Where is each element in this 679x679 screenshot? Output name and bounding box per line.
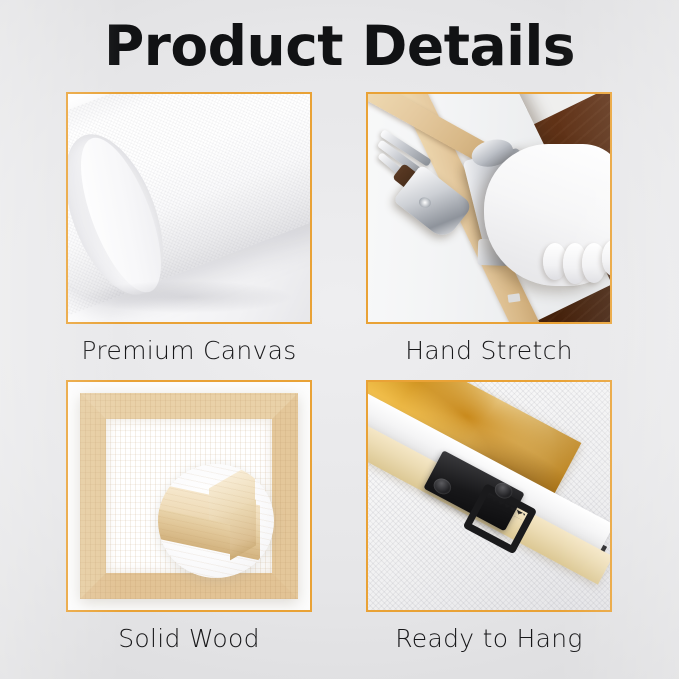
feature-image-solid-wood[interactable] xyxy=(66,380,312,612)
feature-caption-ready-to-hang: Ready to Hang xyxy=(366,624,612,654)
feature-caption-hand-stretch: Hand Stretch xyxy=(366,336,612,366)
hand-stretch-illustration xyxy=(368,94,610,322)
feature-image-premium-canvas[interactable] xyxy=(66,92,312,324)
feature-card-hand-stretch[interactable]: Hand Stretch xyxy=(366,92,616,366)
solid-wood-illustration xyxy=(68,382,310,610)
corner-joint-closeup xyxy=(158,464,274,578)
canvas-roll-illustration xyxy=(68,94,310,322)
feature-card-premium-canvas[interactable]: Premium Canvas xyxy=(66,92,316,366)
feature-card-solid-wood[interactable]: Solid Wood xyxy=(66,380,316,654)
feature-grid: Premium Canvas xyxy=(0,90,679,670)
corner-wood-grain xyxy=(158,464,274,578)
feature-image-hand-stretch[interactable] xyxy=(366,92,612,324)
loose-staple xyxy=(508,293,521,303)
page-title: Product Details xyxy=(0,14,679,78)
feature-image-ready-to-hang[interactable] xyxy=(366,380,612,612)
feature-caption-solid-wood: Solid Wood xyxy=(66,624,312,654)
feature-caption-premium-canvas: Premium Canvas xyxy=(66,336,312,366)
feature-card-ready-to-hang[interactable]: Ready to Hang xyxy=(366,380,616,654)
product-details-infographic: Product Details Premium Canvas xyxy=(0,0,679,679)
ready-to-hang-illustration xyxy=(368,382,610,610)
canvas-drop-shadow xyxy=(83,281,291,313)
